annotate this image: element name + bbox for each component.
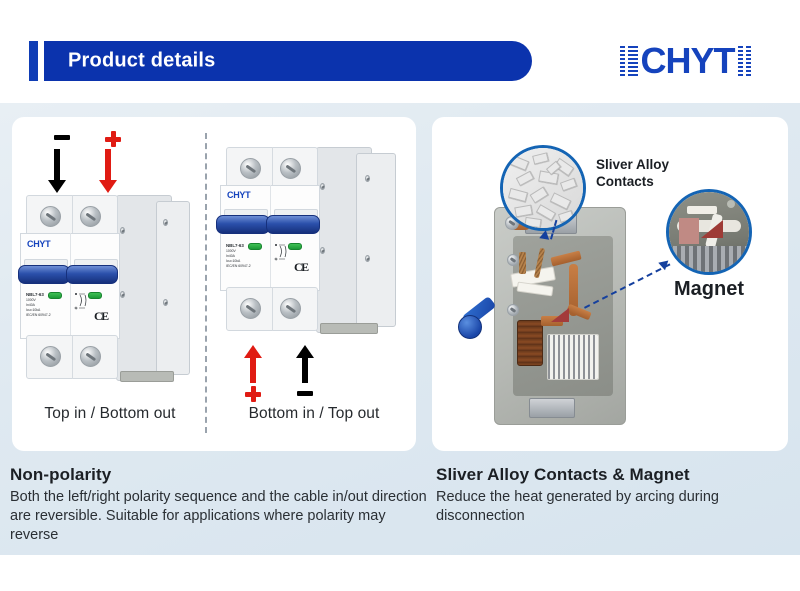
breaker-side-body-2 (156, 201, 190, 375)
device-nameplate: NBL7-63 1000V In40A Icu=10kA IEC/EN 6094… (226, 243, 251, 269)
device-spec-standard: IEC/EN 60947-2 (226, 264, 251, 269)
polarity-symbol-minus (297, 391, 313, 396)
brand-logo: CHYT (586, 37, 784, 85)
status-indicator-window (248, 243, 262, 250)
description-body: Reduce the heat generated by arcing duri… (436, 488, 792, 526)
terminal-screw (240, 158, 261, 179)
ce-mark: CE (294, 260, 308, 275)
breaker-internal-cutaway (494, 207, 626, 425)
trip-spring (519, 252, 526, 274)
striped-bar-icon (620, 46, 625, 76)
toggle-lever[interactable] (66, 265, 118, 284)
striped-bar-icon (738, 46, 743, 76)
ce-mark: CE (94, 309, 108, 324)
callout-label-magnet: Magnet (674, 277, 744, 302)
side-rivet (365, 175, 370, 182)
flow-arrow-down-negative (48, 149, 66, 193)
leader-arrow-alloy (539, 229, 550, 240)
schematic-svg (274, 242, 290, 264)
description-non-polarity: Non-polarity Both the left/right polarit… (10, 465, 430, 545)
polarity-symbol-plus (245, 386, 261, 402)
flow-arrow-up-negative (296, 345, 314, 383)
side-rivet (120, 291, 125, 298)
circuit-breaker-device: CHYT NBL7-63 1000V In40A Icu=10kA IEC/EN… (20, 195, 200, 383)
description-body: Both the left/right polarity sequence an… (10, 488, 430, 545)
figure-bottom-in-top-out: CHYT NBL7-63 1000V In40A Icu=10kA IEC/EN… (220, 133, 408, 433)
page-header: Product details CHYT (0, 0, 800, 103)
terminal-screw (80, 346, 101, 367)
handle-knob[interactable] (458, 315, 482, 339)
figure-caption: Top in / Bottom out (20, 405, 200, 423)
wiring-diagram-icon (74, 291, 90, 314)
terminal-screw (280, 298, 301, 319)
polarity-symbol-minus (54, 135, 70, 140)
callout-silver-alloy-circle (500, 145, 586, 231)
arc-chute (547, 334, 599, 380)
side-rivet (365, 255, 370, 262)
side-rivet (163, 299, 168, 306)
toggle-lever[interactable] (18, 265, 70, 284)
description-title: Sliver Alloy Contacts & Magnet (436, 465, 792, 485)
side-rivet (120, 227, 125, 234)
header-banner: Product details (44, 41, 532, 81)
toggle-lever[interactable] (216, 215, 270, 234)
status-indicator-window (288, 243, 302, 250)
terminal-screw (40, 206, 61, 227)
terminal-screw (80, 206, 101, 227)
striped-bar-icon (746, 46, 751, 76)
breaker-side-body-2 (356, 153, 396, 327)
terminal-screw (240, 298, 261, 319)
side-rivet (320, 247, 325, 254)
magnet-closeup-photo (669, 192, 749, 272)
callout-magnet-circle (666, 189, 752, 275)
device-brand-label: CHYT (227, 190, 250, 200)
description-title: Non-polarity (10, 465, 430, 485)
schematic-svg (74, 291, 90, 313)
polarity-symbol-plus (105, 131, 121, 147)
device-spec-standard: IEC/EN 60947-2 (26, 313, 51, 318)
din-rail-clip (120, 371, 174, 382)
page-title: Product details (68, 50, 215, 73)
device-nameplate: NBL7-63 1000V In40A Icu=10kA IEC/EN 6094… (26, 292, 51, 318)
silver-alloy-contacts-photo (503, 148, 583, 228)
panel-alloy-magnet: Sliver Alloy Contacts Magnet (432, 117, 788, 451)
device-brand-label: CHYT (27, 239, 50, 249)
figure-top-in-bottom-out: CHYT NBL7-63 1000V In40A Icu=10kA IEC/EN… (20, 133, 200, 433)
panel-divider (205, 133, 207, 433)
figure-caption: Bottom in / Top out (220, 405, 408, 423)
flow-arrow-down-positive (99, 149, 117, 193)
callout-label-silver-alloy: Sliver Alloy Contacts (596, 157, 669, 191)
solenoid-coil (517, 320, 543, 366)
header-accent-bar (29, 41, 38, 81)
side-rivet (320, 183, 325, 190)
terminal-screw (280, 158, 301, 179)
product-details-page: Product details CHYT (0, 0, 800, 591)
terminal-screw (40, 346, 61, 367)
din-rail-clip (320, 323, 378, 334)
pivot-screw (507, 254, 519, 266)
circuit-breaker-device: CHYT NBL7-63 1000V In40A Icu=10kA IEC/EN… (220, 147, 408, 335)
logo-wordmark: CHYT (641, 43, 735, 79)
status-indicator-window (48, 292, 62, 299)
flow-arrow-up-positive (244, 345, 262, 383)
striped-bar-icon (628, 46, 638, 76)
panel-non-polarity: CHYT NBL7-63 1000V In40A Icu=10kA IEC/EN… (12, 117, 416, 451)
side-rivet (163, 219, 168, 226)
description-alloy-magnet: Sliver Alloy Contacts & Magnet Reduce th… (436, 465, 792, 526)
wiring-diagram-icon (274, 242, 290, 265)
toggle-lever[interactable] (266, 215, 320, 234)
status-indicator-window (88, 292, 102, 299)
pivot-screw (507, 304, 519, 316)
din-clip-bottom (529, 398, 575, 418)
